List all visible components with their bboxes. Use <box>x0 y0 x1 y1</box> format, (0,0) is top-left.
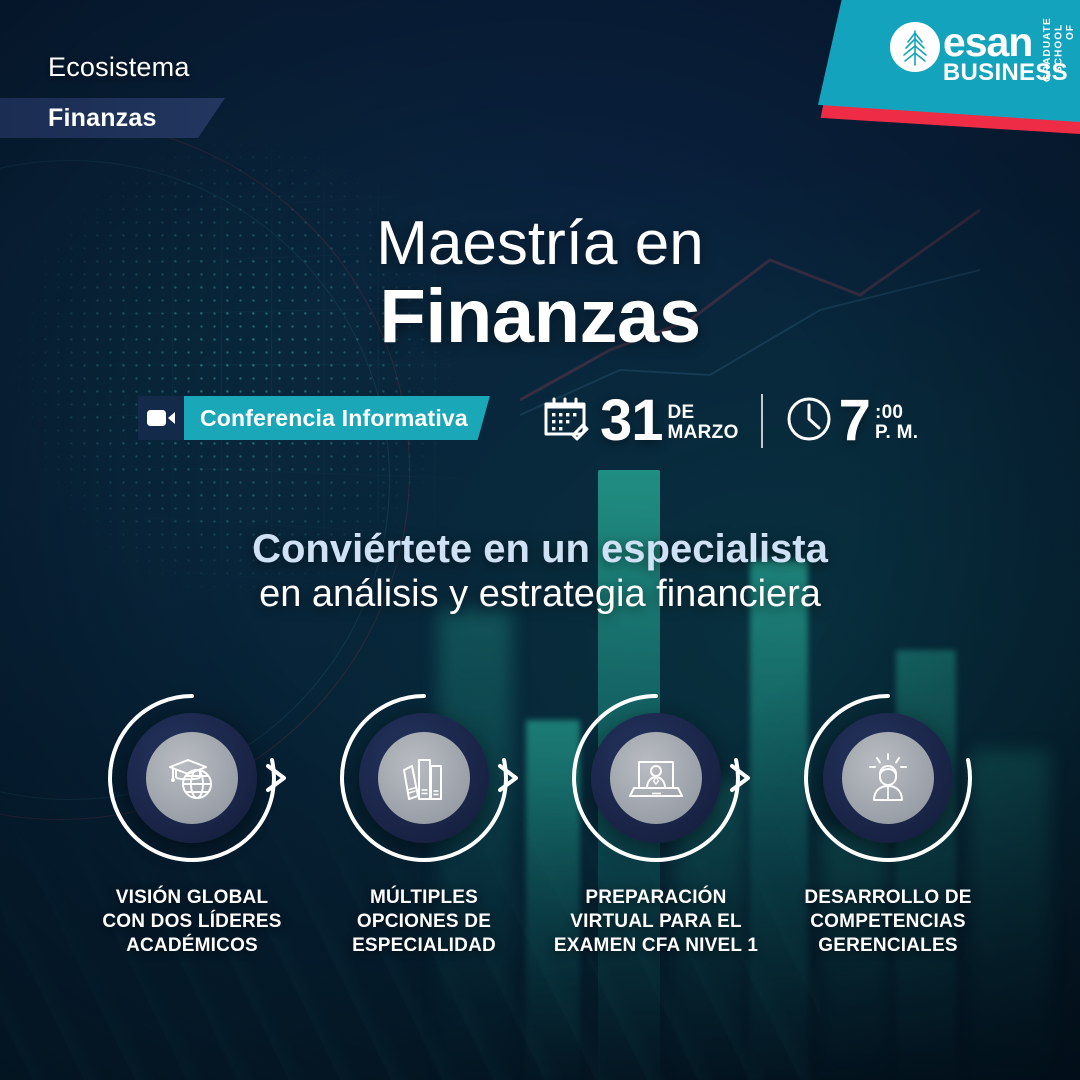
event-hour: 7 <box>839 392 870 450</box>
event-meta-row: Conferencia Informativa <box>0 396 1080 458</box>
ring-arc <box>336 690 512 866</box>
event-of-label: DE <box>668 403 739 423</box>
program-banner-label: Finanzas <box>0 104 157 133</box>
program-banner: Finanzas <box>0 98 225 138</box>
feature-item: MÚLTIPLES OPCIONES DE ESPECIALIDAD <box>308 690 540 957</box>
event-meridiem: P. M. <box>875 423 918 443</box>
event-month-block: DE MARZO <box>668 403 739 442</box>
tagline: Conviértete en un especialista en anális… <box>0 527 1080 616</box>
chevron-right-arrow-icon <box>492 762 526 794</box>
event-month: MARZO <box>668 423 739 443</box>
meta-divider <box>761 394 763 448</box>
page-title: Maestría en Finanzas <box>0 212 1080 356</box>
date-time-group: 31 DE MARZO 7 :00 P. M. <box>540 392 918 450</box>
calendar-icon <box>540 394 590 449</box>
event-day: 31 <box>600 392 663 450</box>
conference-pill: Conferencia Informativa <box>184 396 490 440</box>
event-time-block: :00 P. M. <box>875 403 918 442</box>
chevron-right-arrow-icon <box>260 762 294 794</box>
event-minutes: :00 <box>875 403 918 423</box>
title-line-1: Maestría en <box>0 212 1080 275</box>
video-camera-icon <box>138 396 184 440</box>
esan-logo: esan BUSINESS GRADUATE SCHOOL OF <box>818 0 1080 140</box>
feature-item: PREPARACIÓN VIRTUAL PARA EL EXAMEN CFA N… <box>540 690 772 957</box>
chevron-right-arrow-icon <box>724 762 758 794</box>
feature-caption: PREPARACIÓN VIRTUAL PARA EL EXAMEN CFA N… <box>554 886 758 957</box>
feature-list: VISIÓN GLOBAL CON DOS LÍDERES ACADÉMICOS <box>0 690 1080 957</box>
tagline-line-2: en análisis y estrategia financiera <box>0 573 1080 617</box>
ring-arc <box>104 690 280 866</box>
title-line-2: Finanzas <box>0 277 1080 356</box>
feature-item: DESARROLLO DE COMPETENCIAS GERENCIALES <box>772 690 1004 957</box>
conference-badge: Conferencia Informativa <box>138 396 490 440</box>
feature-caption: DESARROLLO DE COMPETENCIAS GERENCIALES <box>804 886 971 957</box>
feature-caption: VISIÓN GLOBAL CON DOS LÍDERES ACADÉMICOS <box>102 886 281 957</box>
promo-poster: Ecosistema Finanzas esan B <box>0 0 1080 1080</box>
ring-arc <box>800 690 976 866</box>
ring-arc <box>568 690 744 866</box>
eyebrow-label: Ecosistema <box>48 52 190 83</box>
pine-tree-icon <box>890 22 940 72</box>
feature-item: VISIÓN GLOBAL CON DOS LÍDERES ACADÉMICOS <box>76 690 308 957</box>
clock-icon <box>785 395 833 448</box>
logo-tagline: GRADUATE SCHOOL OF <box>1042 24 1077 82</box>
conference-label: Conferencia Informativa <box>200 405 468 432</box>
tagline-line-1: Conviértete en un especialista <box>0 527 1080 572</box>
feature-caption: MÚLTIPLES OPCIONES DE ESPECIALIDAD <box>352 886 496 957</box>
